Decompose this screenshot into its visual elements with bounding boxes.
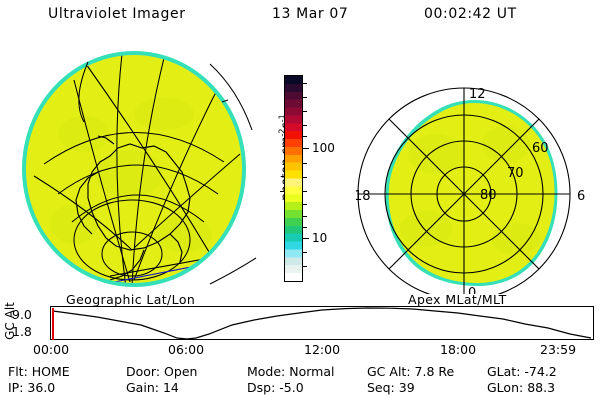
left-panel-caption: Geographic Lat/Lon <box>66 292 195 307</box>
altitude-polyline <box>53 308 591 339</box>
status-glon: GLon: 88.3 <box>487 380 555 395</box>
observation-time: 00:02:42 UT <box>424 6 517 22</box>
status-ip: IP: 36.0 <box>8 380 55 395</box>
status-seq-value: 39 <box>399 380 415 395</box>
polar-mlt-label-18: 18 <box>356 189 371 204</box>
polar-lat-label-60: 60 <box>532 141 549 156</box>
colorbar-gradient-box <box>284 75 303 282</box>
status-mode-value: Normal <box>289 364 334 379</box>
status-door-value: Open <box>164 364 197 379</box>
status-glon-value: 88.3 <box>527 380 555 395</box>
status-door: Door: Open <box>126 364 197 379</box>
altitude-curve <box>51 307 593 339</box>
colorbar-minor-tick <box>303 227 307 228</box>
status-flight: Flt: HOME <box>8 364 70 379</box>
timeline-current-time-marker <box>52 308 54 340</box>
colorbar-minor-tick <box>303 204 307 205</box>
colorbar-minor-tick <box>303 97 307 98</box>
status-glat: GLat: -74.2 <box>487 364 557 379</box>
timeline-xtick-0600: 06:00 <box>168 342 204 357</box>
header-bar: Ultraviolet Imager 13 Mar 07 00:02:42 UT <box>0 6 600 30</box>
timeline-xtick-1200: 12:00 <box>304 342 340 357</box>
colorbar-minor-tick <box>303 216 307 217</box>
colorbar-minor-tick <box>303 136 307 137</box>
timeline-ytick-low: 1.8 <box>12 324 32 339</box>
geographic-aurora-image <box>14 44 264 294</box>
uvi-screenshot: Ultraviolet Imager 13 Mar 07 00:02:42 UT <box>0 0 600 400</box>
status-gain-value: 14 <box>163 380 179 395</box>
observation-date: 13 Mar 07 <box>272 6 348 22</box>
colorbar-minor-tick <box>303 163 307 164</box>
status-mode: Mode: Normal <box>247 364 335 379</box>
status-ip-value: 36.0 <box>27 380 55 395</box>
status-flight-label: Flt: <box>8 364 28 379</box>
colorbar-label-100: 100 <box>312 141 335 155</box>
timeline-xtick-2359: 23:59 <box>540 342 576 357</box>
colorbar-minor-tick <box>303 83 307 84</box>
geographic-image-panel <box>14 44 264 294</box>
polar-image-panel: 12 6 0 18 60 70 80 <box>356 44 600 294</box>
status-flight-value: HOME <box>32 364 70 379</box>
status-glat-value: -74.2 <box>524 364 556 379</box>
polar-mlt-label-12: 12 <box>469 87 486 102</box>
timeline-xtick-0000: 00:00 <box>33 342 69 357</box>
timeline-xtick-1800: 18:00 <box>440 342 476 357</box>
status-gc-alt-label: GC Alt: <box>367 364 411 379</box>
status-gain-label: Gain: <box>126 380 159 395</box>
polar-lat-label-70: 70 <box>507 166 524 181</box>
status-gc-alt: GC Alt: 7.8 Re <box>367 364 454 379</box>
colorbar-minor-tick <box>303 252 307 253</box>
status-gc-alt-value: 7.8 Re <box>415 364 455 379</box>
status-dsp: Dsp: -5.0 <box>247 380 304 395</box>
right-panel-caption: Apex MLat/MLT <box>408 292 507 307</box>
status-block: Flt: HOME Door: Open Mode: Normal GC Alt… <box>0 364 600 398</box>
apex-polar-aurora-image: 12 6 0 18 60 70 80 <box>356 44 600 294</box>
status-dsp-label: Dsp: <box>247 380 275 395</box>
polar-lat-label-80: 80 <box>480 188 497 203</box>
colorbar-gradient <box>285 76 302 281</box>
status-glat-label: GLat: <box>487 364 520 379</box>
status-mode-label: Mode: <box>247 364 285 379</box>
status-seq-label: Seq: <box>367 380 395 395</box>
colorbar-minor-tick <box>303 191 307 192</box>
timeline-plot-box[interactable] <box>50 306 594 340</box>
status-dsp-value: -5.0 <box>279 380 303 395</box>
status-ip-label: IP: <box>8 380 23 395</box>
status-seq: Seq: 39 <box>367 380 415 395</box>
colorbar-tick-100 <box>303 148 309 149</box>
status-gain: Gain: 14 <box>126 380 179 395</box>
status-glon-label: GLon: <box>487 380 523 395</box>
colorbar-minor-tick <box>303 177 307 178</box>
status-door-label: Door: <box>126 364 160 379</box>
polar-mlt-label-6: 6 <box>577 189 585 204</box>
page-title: Ultraviolet Imager <box>48 6 186 22</box>
colorbar-tick-10 <box>303 238 309 239</box>
colorbar-minor-tick <box>303 111 307 112</box>
timeline-ytick-high: 9.0 <box>12 307 32 322</box>
colorbar-label-10: 10 <box>312 231 327 245</box>
colorbar-minor-tick <box>303 125 307 126</box>
orbit-altitude-timeline: GC Alt 9.0 1.8 00:00 06:00 12:00 18:00 2… <box>0 306 600 362</box>
colorbar-minor-tick <box>303 266 307 267</box>
colorbar-panel: photon cm-2s-1 100 10 <box>262 62 358 294</box>
